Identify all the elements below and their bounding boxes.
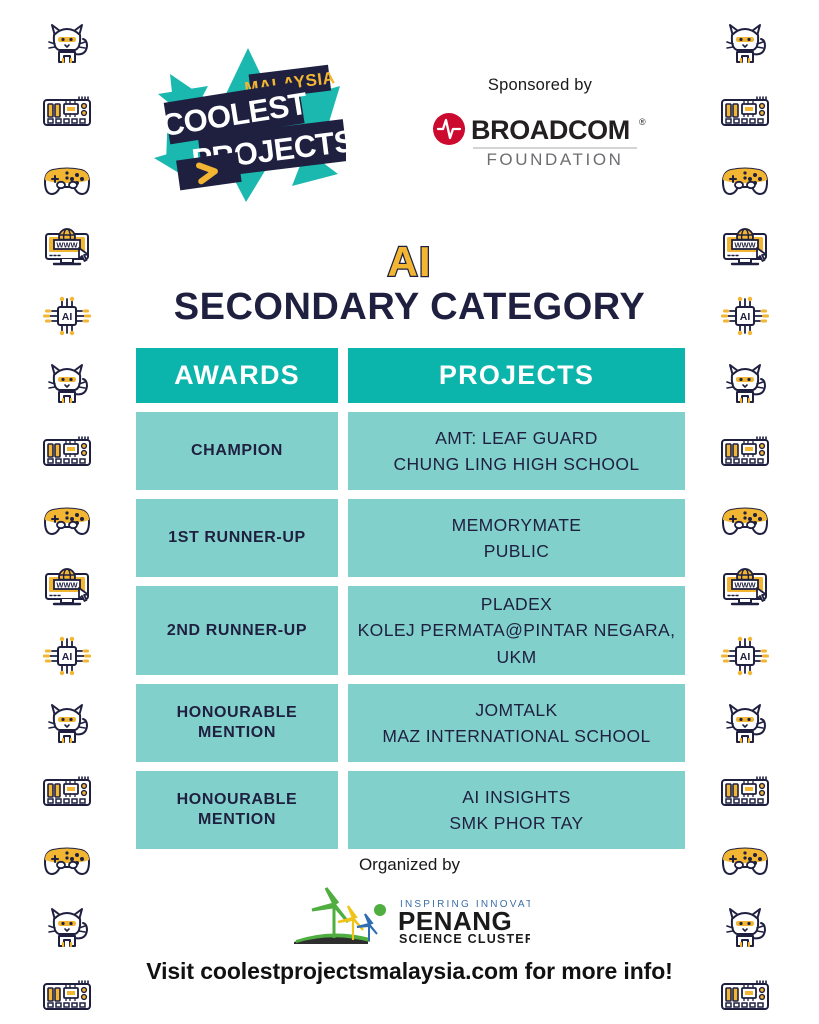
project-cell: PLADEX KOLEJ PERMATA@PINTAR NEGARA, UKM — [348, 586, 685, 675]
organized-by-label: Organized by — [0, 855, 819, 875]
table-row: HONOURABLE MENTION JOMTALK MAZ INTERNATI… — [136, 684, 685, 762]
project-organisation: PUBLIC — [484, 538, 550, 564]
svg-text:AI: AI — [740, 651, 751, 663]
award-label: CHAMPION — [136, 412, 338, 490]
sponsor-block: Sponsored by BROADCOM ® FOUNDATION — [410, 46, 670, 171]
project-cell: AMT: LEAF GUARD CHUNG LING HIGH SCHOOL — [348, 412, 685, 490]
web-monitor-icon: WWW — [41, 562, 93, 614]
project-cell: AI INSIGHTS SMK PHOR TAY — [348, 771, 685, 849]
cat-icon — [41, 698, 93, 750]
circuit-board-icon — [41, 86, 93, 138]
cat-icon — [41, 358, 93, 410]
cat-icon — [41, 902, 93, 954]
project-organisation: CHUNG LING HIGH SCHOOL — [393, 451, 639, 477]
table-header-row: AWARDS PROJECTS — [136, 348, 685, 403]
award-label: 1ST RUNNER-UP — [136, 499, 338, 577]
table-row: 2ND RUNNER-UP PLADEX KOLEJ PERMATA@PINTA… — [136, 586, 685, 675]
svg-text:FOUNDATION: FOUNDATION — [486, 150, 623, 169]
cat-icon — [719, 902, 771, 954]
ai-chip-icon: AI — [719, 630, 771, 682]
gamepad-icon — [719, 154, 771, 206]
award-label: HONOURABLE MENTION — [136, 684, 338, 762]
poster-header: MALAYSIA COOLEST PROJECTS Sponsored by — [150, 46, 670, 216]
table-row: CHAMPION AMT: LEAF GUARD CHUNG LING HIGH… — [136, 412, 685, 490]
ai-chip-icon: AI — [41, 630, 93, 682]
svg-text:BROADCOM: BROADCOM — [471, 115, 630, 145]
page-title: SECONDARY CATEGORY — [0, 286, 819, 329]
svg-text:SCIENCE CLUSTER: SCIENCE CLUSTER — [399, 932, 530, 946]
cat-icon — [719, 698, 771, 750]
svg-text:WWW: WWW — [56, 581, 78, 590]
project-name: PLADEX — [481, 591, 552, 617]
circuit-board-icon — [41, 766, 93, 818]
penang-science-cluster-logo: INSPIRING INNOVATION PENANG SCIENCE CLUS… — [290, 886, 530, 948]
circuit-board-icon — [41, 426, 93, 478]
circuit-board-icon — [719, 86, 771, 138]
category-code-title: AI — [0, 238, 819, 286]
project-cell: JOMTALK MAZ INTERNATIONAL SCHOOL — [348, 684, 685, 762]
circuit-board-icon — [719, 426, 771, 478]
svg-text:AI: AI — [62, 651, 73, 663]
circuit-board-icon — [719, 766, 771, 818]
gamepad-icon — [41, 494, 93, 546]
project-name: JOMTALK — [475, 697, 557, 723]
cat-icon — [719, 18, 771, 70]
table-row: HONOURABLE MENTION AI INSIGHTS SMK PHOR … — [136, 771, 685, 849]
awards-table: AWARDS PROJECTS CHAMPION AMT: LEAF GUARD… — [136, 348, 685, 858]
gamepad-icon — [719, 494, 771, 546]
project-cell: MEMORYMATE PUBLIC — [348, 499, 685, 577]
award-label: HONOURABLE MENTION — [136, 771, 338, 849]
svg-text:®: ® — [639, 117, 646, 127]
broadcom-foundation-logo: BROADCOM ® FOUNDATION — [431, 109, 649, 171]
gamepad-icon — [41, 154, 93, 206]
project-organisation: MAZ INTERNATIONAL SCHOOL — [382, 723, 650, 749]
visit-website-text: Visit coolestprojectsmalaysia.com for mo… — [0, 958, 819, 985]
award-poster: WWW AI — [0, 0, 819, 1024]
svg-text:WWW: WWW — [734, 581, 756, 590]
table-row: 1ST RUNNER-UP MEMORYMATE PUBLIC — [136, 499, 685, 577]
project-organisation: SMK PHOR TAY — [449, 810, 583, 836]
project-name: AMT: LEAF GUARD — [435, 425, 598, 451]
web-monitor-icon: WWW — [719, 562, 771, 614]
cat-icon — [41, 18, 93, 70]
project-organisation: KOLEJ PERMATA@PINTAR NEGARA, UKM — [348, 617, 685, 670]
award-label: 2ND RUNNER-UP — [136, 586, 338, 675]
column-header-projects: PROJECTS — [348, 348, 685, 403]
project-name: AI INSIGHTS — [462, 784, 570, 810]
coolest-projects-logo: MALAYSIA COOLEST PROJECTS — [150, 46, 346, 204]
cat-icon — [719, 358, 771, 410]
project-name: MEMORYMATE — [452, 512, 582, 538]
sponsored-by-label: Sponsored by — [410, 76, 670, 95]
column-header-awards: AWARDS — [136, 348, 338, 403]
